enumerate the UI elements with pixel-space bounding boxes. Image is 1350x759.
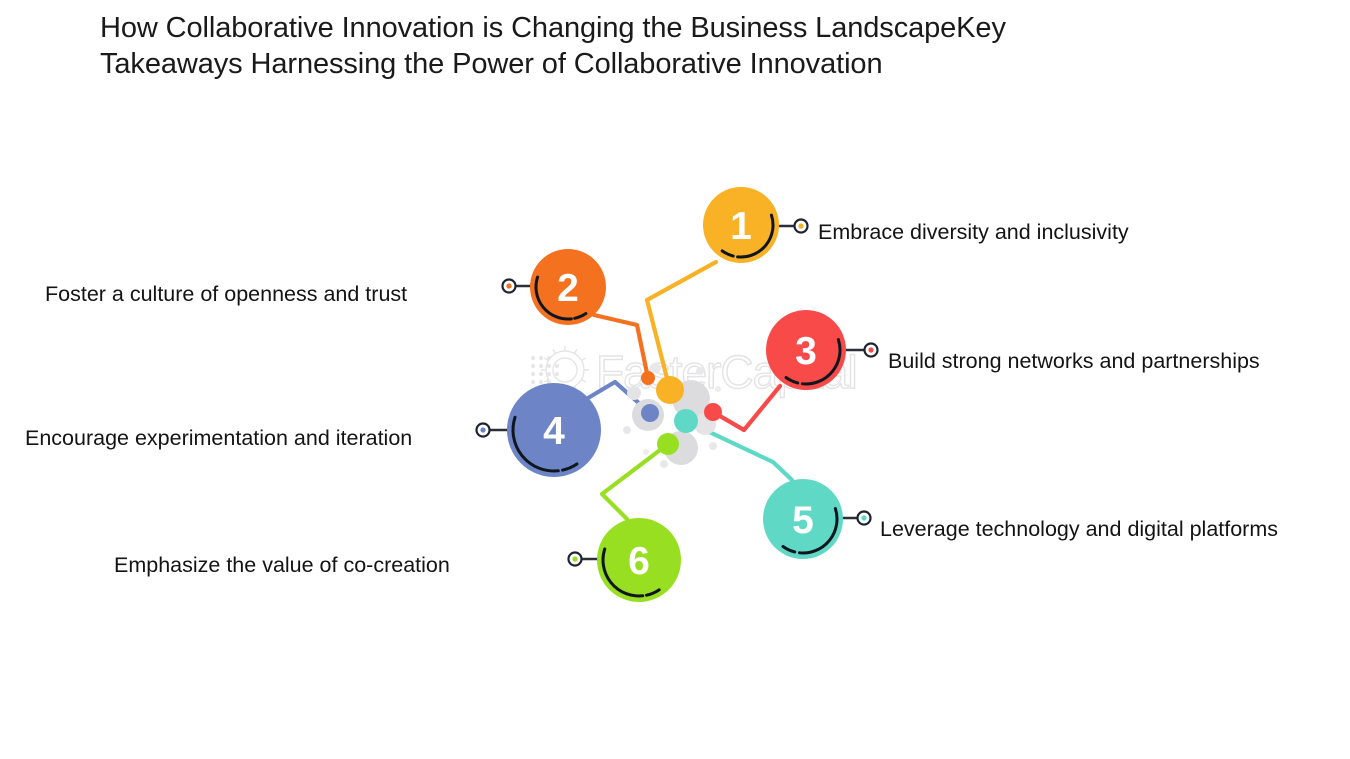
radial-diagram: FasterCapital 123456 <box>0 0 1350 759</box>
node-2[interactable]: 2 <box>530 249 606 325</box>
infographic-canvas: How Collaborative Innovation is Changing… <box>0 0 1350 759</box>
center-dot-blue <box>641 404 659 422</box>
marker-dot-3 <box>868 347 873 352</box>
center-dot-amber <box>656 376 684 404</box>
node-number-2: 2 <box>557 267 579 310</box>
center-dot-orange <box>641 371 655 385</box>
decor-circle <box>660 460 668 468</box>
node-label-3: Build strong networks and partnerships <box>888 347 1260 375</box>
decor-circle <box>651 363 661 373</box>
marker-dot-4 <box>480 427 485 432</box>
decor-circle <box>627 386 641 400</box>
node-number-5: 5 <box>792 499 814 542</box>
connector-line-6 <box>602 444 668 519</box>
node-number-3: 3 <box>795 330 817 373</box>
marker-dot-6 <box>572 556 577 561</box>
label-marker-3[interactable] <box>865 344 878 357</box>
decor-circle <box>715 386 721 392</box>
center-dot-green <box>657 433 679 455</box>
node-label-5: Leverage technology and digital platform… <box>880 515 1278 543</box>
decor-circle <box>623 426 631 434</box>
node-1[interactable]: 1 <box>703 187 779 263</box>
node-3[interactable]: 3 <box>766 310 846 390</box>
node-label-4: Encourage experimentation and iteration <box>25 424 412 452</box>
label-marker-1[interactable] <box>795 220 808 233</box>
node-number-6: 6 <box>628 540 650 583</box>
label-marker-5[interactable] <box>858 512 871 525</box>
node-number-4: 4 <box>543 410 565 453</box>
label-marker-2[interactable] <box>503 280 516 293</box>
center-dot-red <box>704 403 722 421</box>
marker-dot-2 <box>506 283 511 288</box>
node-label-6: Emphasize the value of co-creation <box>114 551 450 579</box>
decor-circle <box>643 449 649 455</box>
node-4[interactable]: 4 <box>507 383 601 477</box>
marker-dot-1 <box>798 223 803 228</box>
node-5[interactable]: 5 <box>763 479 843 559</box>
marker-dot-5 <box>861 515 866 520</box>
label-marker-4[interactable] <box>477 424 490 437</box>
decor-circle <box>709 442 717 450</box>
node-label-1: Embrace diversity and inclusivity <box>818 218 1129 246</box>
node-label-2: Foster a culture of openness and trust <box>45 280 407 308</box>
center-dot-teal <box>674 409 698 433</box>
node-number-1: 1 <box>730 205 752 248</box>
decor-circle <box>696 367 704 375</box>
node-6[interactable]: 6 <box>597 518 681 602</box>
label-marker-6[interactable] <box>569 553 582 566</box>
